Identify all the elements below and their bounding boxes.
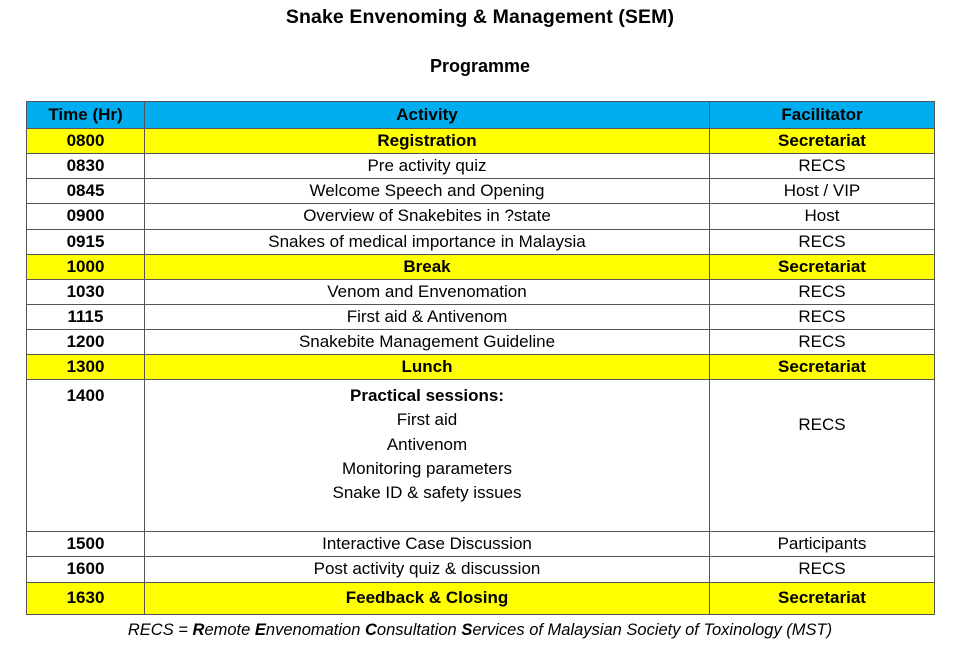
cell-activity: Snakes of medical importance in Malaysia (145, 229, 710, 254)
table-row: 0900Overview of Snakebites in ?stateHost (27, 204, 935, 229)
cell-activity: Feedback & Closing (145, 582, 710, 614)
table-row: 1630Feedback & ClosingSecretariat (27, 582, 935, 614)
column-header-time: Time (Hr) (27, 102, 145, 129)
cell-activity: Welcome Speech and Opening (145, 179, 710, 204)
cell-facilitator: Host / VIP (710, 179, 935, 204)
column-header-activity: Activity (145, 102, 710, 129)
activity-item: Antivenom (149, 433, 705, 457)
table-header-row: Time (Hr) Activity Facilitator (27, 102, 935, 129)
footnote-text: RECS = Remote Envenomation Consultation … (128, 621, 832, 639)
footnote-initial: E (255, 621, 266, 639)
cell-time: 1030 (27, 279, 145, 304)
table-row: 1400Practical sessions:First aidAntiveno… (27, 380, 935, 532)
cell-activity: Pre activity quiz (145, 154, 710, 179)
cell-time: 0830 (27, 154, 145, 179)
table-row: 1115First aid & AntivenomRECS (27, 304, 935, 329)
cell-facilitator: RECS (710, 330, 935, 355)
cell-activity: Overview of Snakebites in ?state (145, 204, 710, 229)
activity-item: Snake ID & safety issues (149, 481, 705, 505)
table-row: 1500Interactive Case DiscussionParticipa… (27, 532, 935, 557)
cell-time: 1400 (27, 380, 145, 532)
table-row: 1600Post activity quiz & discussionRECS (27, 557, 935, 582)
cell-time: 0800 (27, 129, 145, 154)
cell-facilitator: RECS (710, 380, 935, 532)
cell-time: 0900 (27, 204, 145, 229)
cell-activity: Registration (145, 129, 710, 154)
table-row: 1200Snakebite Management GuidelineRECS (27, 330, 935, 355)
page-title: Snake Envenoming & Management (SEM) (0, 6, 960, 29)
cell-time: 1300 (27, 355, 145, 380)
cell-facilitator: Secretariat (710, 582, 935, 614)
cell-time: 1200 (27, 330, 145, 355)
table-row: 0830Pre activity quizRECS (27, 154, 935, 179)
table-row: 1000BreakSecretariat (27, 254, 935, 279)
table-row: 0915Snakes of medical importance in Mala… (27, 229, 935, 254)
footnote-initial: C (365, 621, 377, 639)
footnote: RECS = Remote Envenomation Consultation … (0, 621, 960, 640)
cell-time: 1600 (27, 557, 145, 582)
activity-item: Monitoring parameters (149, 457, 705, 481)
cell-activity: First aid & Antivenom (145, 304, 710, 329)
cell-facilitator: Participants (710, 532, 935, 557)
table-row: 1300LunchSecretariat (27, 355, 935, 380)
cell-facilitator: RECS (710, 154, 935, 179)
page-subtitle: Programme (0, 56, 960, 77)
cell-facilitator: RECS (710, 557, 935, 582)
footnote-initial: S (461, 621, 472, 639)
cell-facilitator: RECS (710, 279, 935, 304)
cell-activity: Practical sessions:First aidAntivenomMon… (145, 380, 710, 532)
cell-facilitator: RECS (710, 304, 935, 329)
programme-page: Snake Envenoming & Management (SEM) Prog… (0, 0, 960, 661)
cell-activity: Venom and Envenomation (145, 279, 710, 304)
cell-time: 1630 (27, 582, 145, 614)
cell-facilitator: Secretariat (710, 129, 935, 154)
table-body: 0800RegistrationSecretariat0830Pre activ… (27, 129, 935, 615)
cell-activity: Break (145, 254, 710, 279)
cell-activity: Interactive Case Discussion (145, 532, 710, 557)
activity-item: First aid (149, 408, 705, 432)
cell-facilitator: Host (710, 204, 935, 229)
cell-activity: Post activity quiz & discussion (145, 557, 710, 582)
cell-time: 1000 (27, 254, 145, 279)
cell-facilitator: Secretariat (710, 254, 935, 279)
footnote-initial: R (193, 621, 205, 639)
table-row: 1030Venom and EnvenomationRECS (27, 279, 935, 304)
cell-time: 1500 (27, 532, 145, 557)
cell-time: 0845 (27, 179, 145, 204)
cell-activity: Lunch (145, 355, 710, 380)
table-row: 0800RegistrationSecretariat (27, 129, 935, 154)
cell-facilitator: RECS (710, 229, 935, 254)
cell-time: 0915 (27, 229, 145, 254)
programme-table: Time (Hr) Activity Facilitator 0800Regis… (26, 101, 935, 615)
programme-table-container: Time (Hr) Activity Facilitator 0800Regis… (26, 101, 934, 615)
column-header-facilitator: Facilitator (710, 102, 935, 129)
cell-time: 1115 (27, 304, 145, 329)
cell-activity: Snakebite Management Guideline (145, 330, 710, 355)
table-row: 0845Welcome Speech and OpeningHost / VIP (27, 179, 935, 204)
table-header: Time (Hr) Activity Facilitator (27, 102, 935, 129)
cell-facilitator: Secretariat (710, 355, 935, 380)
activity-heading: Practical sessions: (149, 384, 705, 408)
